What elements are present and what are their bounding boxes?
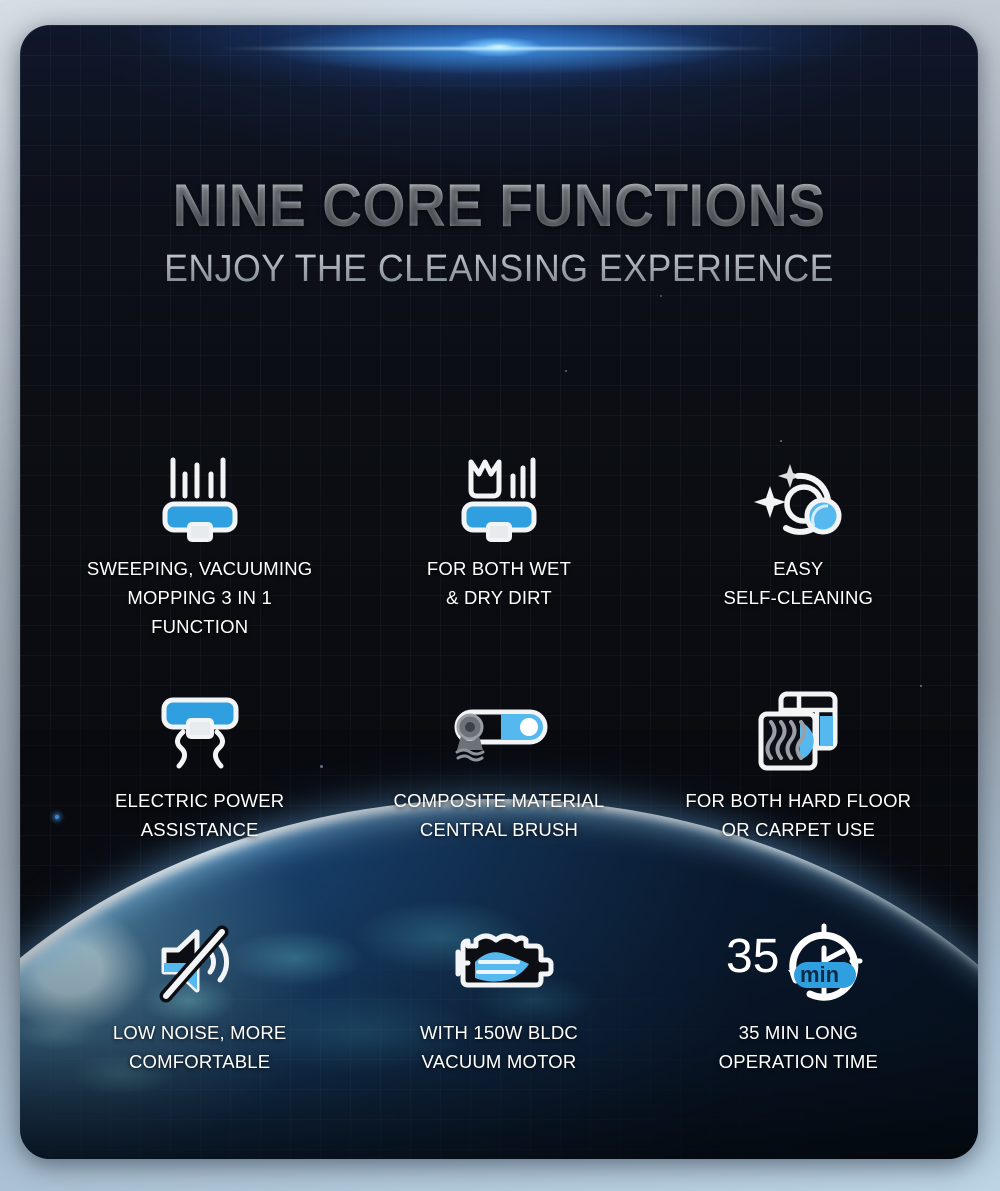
- low-noise-mute-icon: [150, 914, 250, 1014]
- feature-item: SWEEPING, VACUUMING MOPPING 3 IN 1 FUNCT…: [50, 450, 349, 660]
- lens-flare: [129, 25, 869, 141]
- hard-floor-carpet-icon: [748, 682, 848, 782]
- self-cleaning-sparkle-icon: [748, 450, 848, 550]
- svg-text:min: min: [800, 962, 839, 987]
- bldc-vacuum-motor-icon: [444, 914, 554, 1014]
- feature-grid: SWEEPING, VACUUMING MOPPING 3 IN 1 FUNCT…: [50, 450, 948, 1124]
- feature-caption: SWEEPING, VACUUMING MOPPING 3 IN 1 FUNCT…: [87, 554, 312, 642]
- feature-caption: FOR BOTH WET & DRY DIRT: [427, 554, 571, 612]
- page-subtitle: ENJOY THE CLEANSING EXPERIENCE: [49, 250, 950, 288]
- feature-item: FOR BOTH WET & DRY DIRT: [349, 450, 648, 660]
- feature-item: COMPOSITE MATERIAL CENTRAL BRUSH: [349, 682, 648, 892]
- lens-flare-streak: [219, 47, 779, 50]
- wet-dry-dirt-icon: [451, 450, 547, 550]
- runtime-clock-icon: 35 min: [724, 914, 872, 1014]
- vacuum-head-bristles-icon: [152, 450, 248, 550]
- feature-caption: FOR BOTH HARD FLOOR OR CARPET USE: [685, 786, 911, 844]
- infographic-panel: NINE CORE FUNCTIONS ENJOY THE CLEANSING …: [20, 25, 978, 1159]
- feature-item: EASY SELF-CLEANING: [649, 450, 948, 660]
- feature-caption: WITH 150W BLDC VACUUM MOTOR: [420, 1018, 578, 1076]
- electric-power-assist-icon: [150, 682, 250, 782]
- feature-item: ELECTRIC POWER ASSISTANCE: [50, 682, 349, 892]
- feature-caption: 35 MIN LONG OPERATION TIME: [719, 1018, 878, 1076]
- feature-caption: ELECTRIC POWER ASSISTANCE: [115, 786, 284, 844]
- central-brush-roller-icon: [441, 682, 557, 782]
- feature-item: FOR BOTH HARD FLOOR OR CARPET USE: [649, 682, 948, 892]
- feature-item: LOW NOISE, MORE COMFORTABLE: [50, 914, 349, 1124]
- feature-caption: COMPOSITE MATERIAL CENTRAL BRUSH: [394, 786, 605, 844]
- feature-caption: EASY SELF-CLEANING: [724, 554, 874, 612]
- feature-item: 35 min 35 MIN LON: [649, 914, 948, 1124]
- svg-text:35: 35: [726, 930, 779, 983]
- page-title: NINE CORE FUNCTIONS: [58, 175, 939, 236]
- feature-item: WITH 150W BLDC VACUUM MOTOR: [349, 914, 648, 1124]
- feature-caption: LOW NOISE, MORE COMFORTABLE: [113, 1018, 287, 1076]
- heading-block: NINE CORE FUNCTIONS ENJOY THE CLEANSING …: [20, 175, 978, 288]
